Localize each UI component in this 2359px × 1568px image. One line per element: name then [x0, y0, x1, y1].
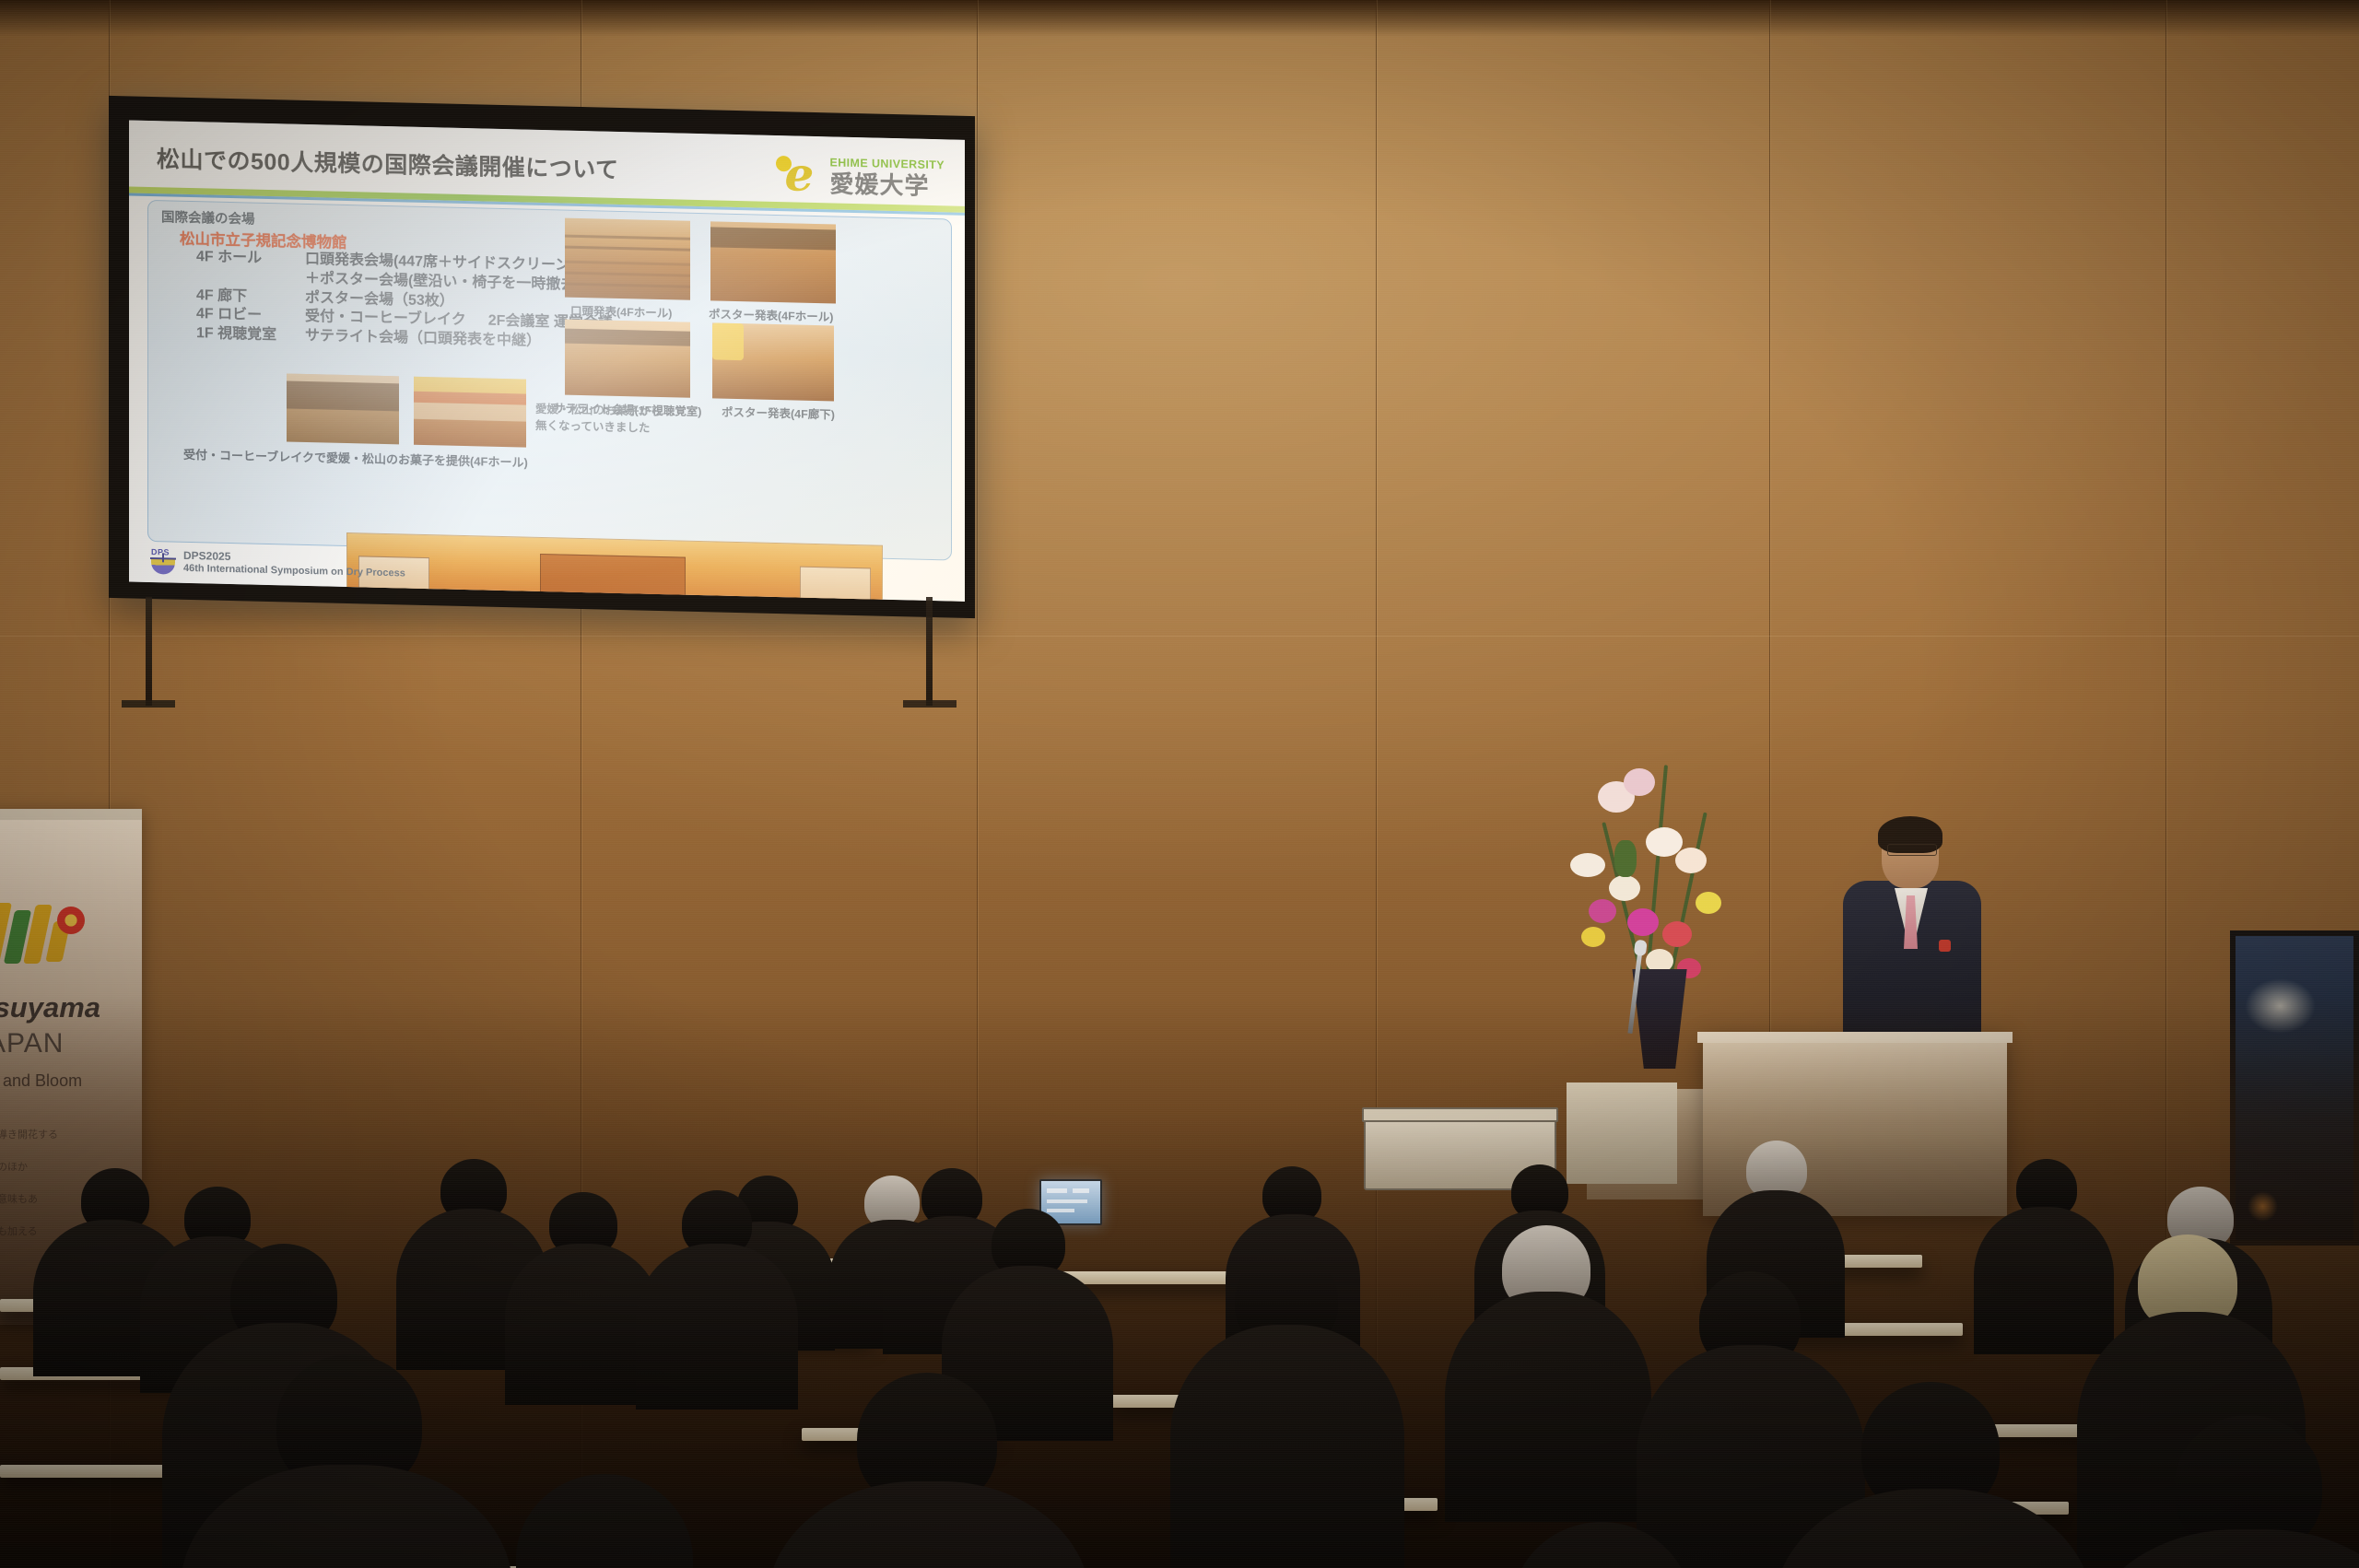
photo-main-hall: [346, 532, 883, 602]
main-screen-in-photo: [540, 554, 687, 602]
dps-logo-icon: DPS: [149, 547, 177, 576]
slide-title: 松山での500人規模の国際会議開催について: [157, 141, 618, 185]
section-label: 国際会議の会場: [161, 206, 255, 228]
ehime-university-logo: e EHIME UNIVERSITY 愛媛大学: [774, 152, 945, 202]
caption-oral: 口頭発表(4Fホール): [570, 301, 672, 322]
venue-room-list: 4F ホール 口頭発表会場(447席＋サイドスクリーン) ＋ポスター会場(壁沿い…: [196, 248, 613, 354]
caption-poster-hall: ポスター発表(4Fホール): [709, 304, 833, 324]
photo-oral-presentation: [565, 218, 690, 300]
dps-footer: DPS DPS2025 46th International Symposium…: [149, 547, 405, 581]
slide-body-box: 国際会議の会場 松山市立子規記念博物館 4F ホール 口頭発表会場(447席＋サ…: [147, 200, 952, 561]
venue-place: 4F ロビー: [196, 306, 305, 328]
audience-table: [1060, 1271, 1253, 1284]
audience-person: [1170, 1325, 1404, 1568]
presentation-slide: 松山での500人規模の国際会議開催について e EHIME UNIVERSITY…: [129, 120, 965, 601]
audience-person: [636, 1244, 798, 1410]
venue-place: [196, 267, 305, 289]
ehime-e-glyph: e: [785, 154, 815, 195]
presenter-badge: [1939, 940, 1951, 952]
venue-place: 4F ホール: [196, 248, 305, 270]
photo-satellite-room: [565, 320, 690, 398]
audience-person: [767, 1481, 1091, 1568]
caption-poster-corridor: ポスター発表(4F廊下): [722, 403, 835, 423]
audience-head: [516, 1474, 693, 1568]
pillar-stand: [1567, 1082, 1677, 1184]
projection-screen: 松山での500人規模の国際会議開催について e EHIME UNIVERSITY…: [109, 96, 975, 618]
photo-poster-corridor: [712, 322, 834, 401]
photograph-scene: atsuyama JAPAN ring and Bloom プ）が導き開花する …: [0, 0, 2359, 1568]
audience-person: [1445, 1292, 1651, 1522]
audience-person: [1974, 1207, 2114, 1354]
dps-logo-text: DPS: [151, 547, 170, 556]
photo-sweets: [414, 377, 526, 448]
note-sweets-line-2: 無くなっていきました: [535, 418, 650, 437]
caption-reception: 受付・コーヒーブレイクで愛媛・松山のお菓子を提供(4Fホール): [183, 445, 528, 471]
screen-stand: [138, 597, 949, 708]
audience-area: [0, 995, 2359, 1568]
photo-poster-hall: [710, 221, 836, 303]
venue-place: 1F 視聴覚室: [196, 324, 305, 346]
ceiling-shadow: [0, 0, 2359, 37]
projection-surface: 松山での500人規模の国際会議開催について e EHIME UNIVERSITY…: [129, 120, 965, 601]
logo-english-name: EHIME UNIVERSITY: [830, 158, 945, 171]
ehime-e-mark-icon: e: [774, 152, 824, 199]
presenter-glasses: [1887, 844, 1937, 856]
logo-japanese-name: 愛媛大学: [830, 171, 945, 198]
note-sweets-line-1: 愛媛・松山のお菓子から: [535, 402, 663, 420]
photo-reception: [287, 373, 399, 444]
venue-place: 4F 廊下: [196, 287, 305, 309]
